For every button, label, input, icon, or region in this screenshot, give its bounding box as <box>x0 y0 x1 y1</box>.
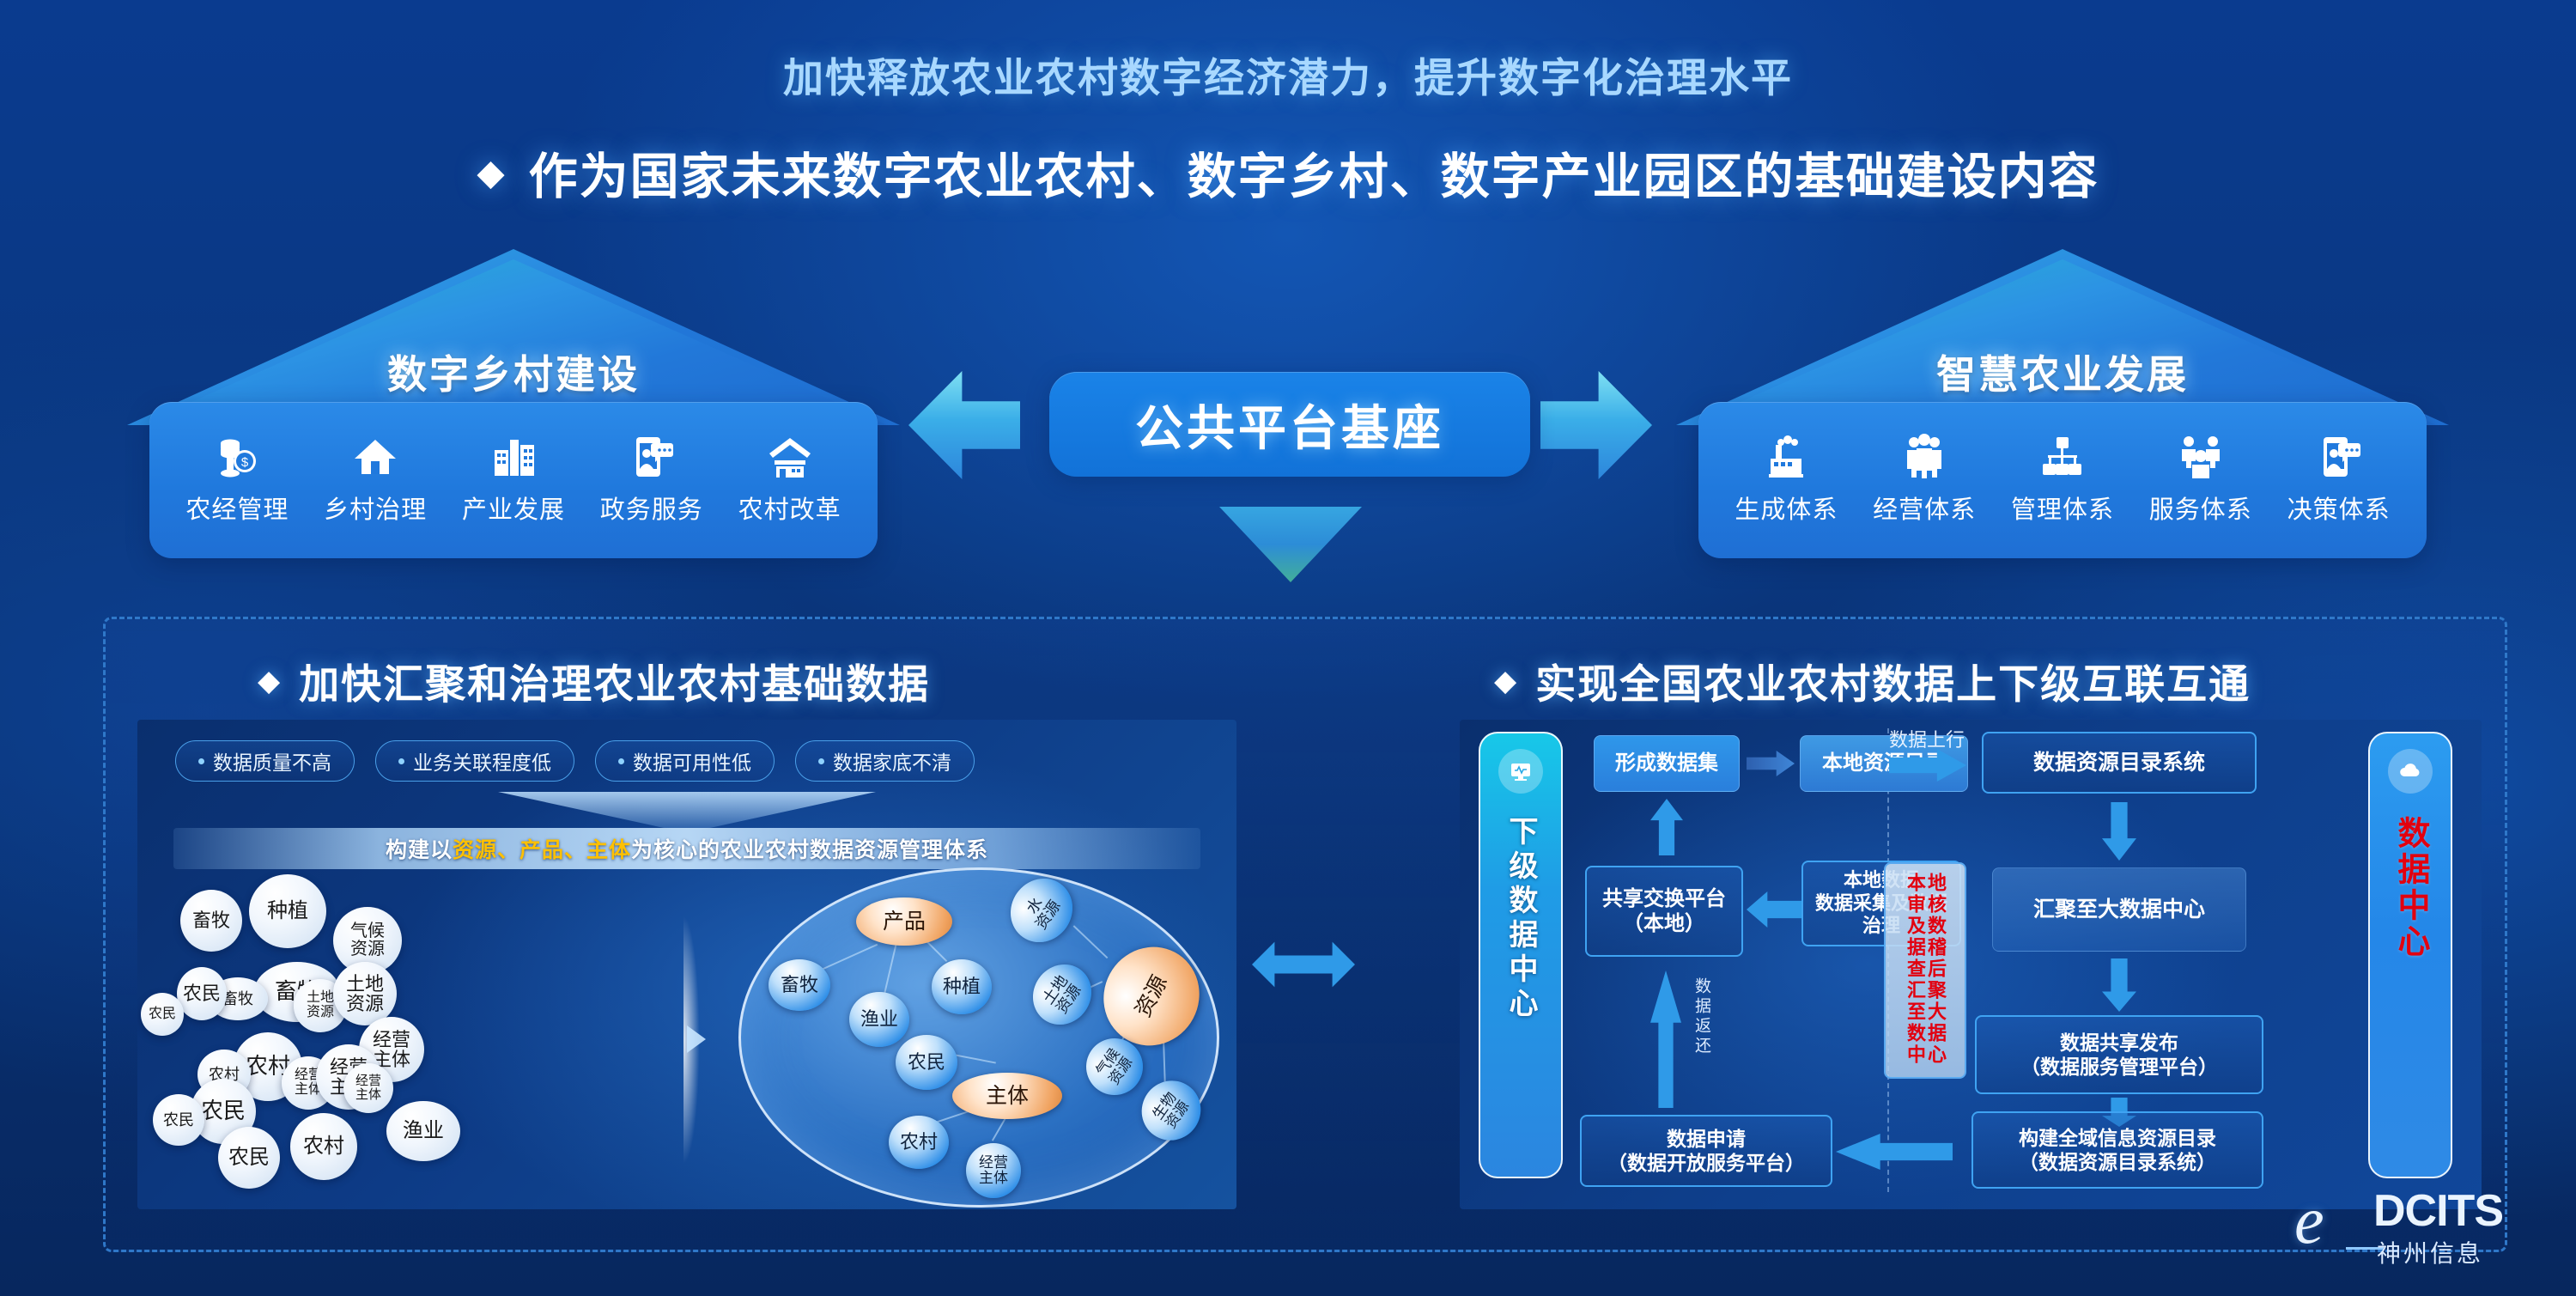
wing-left-item-3-label: 政务服务 <box>600 490 703 526</box>
wing-left-item-4[interactable]: 农村改革 <box>726 431 854 526</box>
problem-chip-3[interactable]: 数据家底不清 <box>795 740 975 782</box>
transition-divider <box>683 871 723 1209</box>
ribbon-highlight: 资源、产品、主体 <box>453 838 631 862</box>
wing-right-card: 生成体系 经营体系 <box>1698 402 2427 558</box>
page-subtitle: ◆ 作为国家未来数字农业农村、数字乡村、数字产业园区的基础建设内容 <box>0 137 2576 208</box>
data-bubble: 渔业 <box>386 1101 460 1161</box>
right-figure: 下级数据中心 数据中心 形成数据集 本地资源目录 数据上行 数据资源目录系统 共… <box>1460 720 2482 1209</box>
data-bubble: 土地 资源 <box>333 962 397 1025</box>
flow-box-exchange-platform[interactable]: 共享交换平台 （本地） <box>1585 866 1743 957</box>
core-node: 土地 资源 <box>1021 953 1103 1037</box>
flow-arrow-left-2 <box>1836 1134 1953 1170</box>
data-bubble: 农民 <box>177 967 227 1020</box>
core-node: 产品 <box>856 897 952 946</box>
problem-chip-label: 数据质量不高 <box>213 746 331 776</box>
wing-left-item-0[interactable]: $ 农经管理 <box>173 431 301 526</box>
problem-chip-1[interactable]: 业务关联程度低 <box>375 740 574 782</box>
data-bubble: 农村 <box>290 1113 357 1180</box>
monitor-icon <box>1498 749 1543 794</box>
wing-right-item-2-label: 管理体系 <box>2011 490 2114 526</box>
wing-right-item-4[interactable]: 决策体系 <box>2275 431 2403 526</box>
svg-text:$: $ <box>241 455 249 470</box>
page-subtitle-text: 作为国家未来数字农业农村、数字乡村、数字产业园区的基础建设内容 <box>529 137 2099 208</box>
data-bubble: 农民 <box>141 993 184 1036</box>
logo-brand: DCITS <box>2373 1185 2503 1237</box>
org-chart-icon <box>2038 431 2087 481</box>
service-people-icon <box>2177 431 2225 481</box>
wing-smart-agriculture: 智慧农业发展 生成体系 <box>1676 249 2449 558</box>
public-platform-base[interactable]: 公共平台基座 <box>1049 372 1530 477</box>
ribbon-suffix: 为核心的农业农村数据资源管理体系 <box>631 838 988 862</box>
strategy-ribbon-text: 构建以资源、产品、主体为核心的农业农村数据资源管理体系 <box>386 833 988 864</box>
flow-box-data-publish[interactable]: 数据共享发布 （数据服务管理平台） <box>1975 1015 2263 1094</box>
diamond-bullet-icon: ◆ <box>477 155 506 191</box>
red-note-box: 本审及据查汇至数中 地核数稽后聚大据心 <box>1884 862 1966 1079</box>
data-center-label: 数据中心 <box>2394 816 2427 960</box>
mobile-service-icon <box>628 431 676 481</box>
problem-chip-2[interactable]: 数据可用性低 <box>595 740 775 782</box>
problem-chip-label: 数据可用性低 <box>633 746 751 776</box>
data-bubble: 经营 主体 <box>343 1063 393 1113</box>
people-group-icon <box>1900 431 1948 481</box>
logo-mark-icon: e <box>2294 1187 2324 1254</box>
problem-chip-label: 数据家底不清 <box>833 746 951 776</box>
wing-right-title: 智慧农业发展 <box>1676 344 2449 400</box>
flow-arrow-up-2 <box>1650 970 1681 1108</box>
buildings-icon <box>489 431 538 481</box>
wing-right-item-2[interactable]: 管理体系 <box>1998 431 2127 526</box>
problem-chip-0[interactable]: 数据质量不高 <box>175 740 355 782</box>
core-node: 生物 资源 <box>1130 1069 1212 1152</box>
flow-arrow-up-1 <box>1650 799 1683 855</box>
red-note-col-1: 本审及据查汇至数中 <box>1905 873 1924 1068</box>
lower-data-center-bar[interactable]: 下级数据中心 <box>1479 732 1563 1178</box>
messy-bubble-cluster: 畜牧种植气候 资源畜牧畜牧农民农民土地 资源土地 资源经营 主体农村农村经营 主… <box>137 873 687 1208</box>
flow-box-aggregate-bigdata[interactable]: 汇聚至大数据中心 <box>1992 867 2246 952</box>
flow-box-catalog-system[interactable]: 数据资源目录系统 <box>1982 732 2257 794</box>
core-node: 农村 <box>889 1116 949 1169</box>
ribbon-prefix: 构建以 <box>386 838 453 862</box>
wing-right-item-0-label: 生成体系 <box>1735 490 1838 526</box>
public-platform-base-label: 公共平台基座 <box>1135 390 1444 459</box>
wing-right-item-0[interactable]: 生成体系 <box>1722 431 1850 526</box>
problem-chip-list: 数据质量不高业务关联程度低数据可用性低数据家底不清 <box>163 740 1211 782</box>
section-heading-left: ◆ 加快汇聚和治理农业农村基础数据 <box>258 651 930 710</box>
wing-left-card: $ 农经管理 乡村治理 <box>149 402 878 558</box>
core-node: 种植 <box>932 959 992 1014</box>
funnel-shape <box>498 792 876 830</box>
bullet-dot-icon <box>618 758 624 764</box>
return-label: 数据返还 <box>1690 977 1713 1056</box>
money-stack-icon: $ <box>213 431 261 481</box>
mobile-decision-icon <box>2315 431 2363 481</box>
wing-left-item-1[interactable]: 乡村治理 <box>311 431 440 526</box>
core-node: 经营 主体 <box>966 1143 1021 1198</box>
logo-brand-cn: 神州信息 <box>2377 1235 2483 1269</box>
wing-left-item-1-label: 乡村治理 <box>324 490 427 526</box>
lower-data-center-label: 下级数据中心 <box>1506 816 1535 1022</box>
problem-chip-label: 业务关联程度低 <box>413 746 551 776</box>
company-logo: e DCITS 神州信息 <box>2294 1178 2552 1273</box>
flow-box-form-dataset[interactable]: 形成数据集 <box>1594 735 1740 792</box>
flow-arrow-right-1 <box>1747 751 1795 776</box>
arrow-right-icon <box>1540 371 1652 479</box>
house-icon <box>351 431 399 481</box>
wing-left-item-0-label: 农经管理 <box>185 490 289 526</box>
data-bubble: 农民 <box>153 1094 204 1146</box>
left-figure: 数据质量不高业务关联程度低数据可用性低数据家底不清 构建以资源、产品、主体为核心… <box>137 720 1236 1209</box>
pentagon-roof-left-inner <box>139 259 888 425</box>
flow-box-data-request[interactable]: 数据申请 （数据开放服务平台） <box>1580 1115 1832 1187</box>
page-title: 加快释放农业农村数字经济潜力，提升数字化治理水平 <box>0 45 2576 104</box>
pentagon-roof-right-inner <box>1688 259 2437 425</box>
slide-canvas: 加快释放农业农村数字经济潜力，提升数字化治理水平 ◆ 作为国家未来数字农业农村、… <box>0 0 2576 1296</box>
core-node: 渔业 <box>849 992 909 1047</box>
red-note-col-2: 地核数稽后聚大据心 <box>1926 873 1945 1068</box>
flow-box-global-catalog[interactable]: 构建全域信息资源目录 （数据资源目录系统） <box>1971 1111 2263 1189</box>
flow-arrow-left-1 <box>1747 891 1801 928</box>
data-bubble: 农民 <box>218 1127 280 1189</box>
organized-ellipse: 产品畜牧渔业种植农民主体农村经营 主体水 资源土地 资源资源气候 资源生物 资源 <box>738 867 1219 1208</box>
wing-right-item-1-label: 经营体系 <box>1873 490 1976 526</box>
wing-digital-village: 数字乡村建设 $ 农经管理 <box>127 249 900 558</box>
wing-right-item-3-label: 服务体系 <box>2149 490 2252 526</box>
factory-icon <box>1762 431 1810 481</box>
arrow-down-icon <box>1219 507 1362 582</box>
wing-right-item-4-label: 决策体系 <box>2287 490 2391 526</box>
core-node: 农民 <box>896 1035 957 1090</box>
wing-left-item-2-label: 产业发展 <box>462 490 565 526</box>
cloud-icon <box>2388 749 2433 794</box>
bullet-dot-icon <box>398 758 404 764</box>
wing-right-item-3[interactable]: 服务体系 <box>2136 431 2265 526</box>
diamond-bullet-icon: ◆ <box>1494 666 1518 696</box>
section-heading-right: ◆ 实现全国农业农村数据上下级互联互通 <box>1494 651 2251 710</box>
strategy-ribbon: 构建以资源、产品、主体为核心的农业农村数据资源管理体系 <box>173 828 1200 869</box>
data-center-bar[interactable]: 数据中心 <box>2368 732 2452 1178</box>
wing-right-item-1[interactable]: 经营体系 <box>1860 431 1989 526</box>
data-bubble: 畜牧 <box>180 890 242 952</box>
wing-left-item-4-label: 农村改革 <box>738 490 841 526</box>
diamond-bullet-icon: ◆ <box>258 666 282 696</box>
section-heading-right-text: 实现全国农业农村数据上下级互联互通 <box>1535 651 2251 710</box>
arrow-left-icon <box>908 371 1020 479</box>
upstream-label: 数据上行 <box>1889 725 1965 752</box>
section-heading-left-text: 加快汇聚和治理农业农村基础数据 <box>299 651 930 710</box>
data-bubble: 种植 <box>249 874 326 948</box>
flow-arrow-down-1 <box>2102 802 2136 861</box>
village-house-icon <box>766 431 814 481</box>
bullet-dot-icon <box>198 758 204 764</box>
flow-arrow-down-2 <box>2102 958 2136 1012</box>
core-node: 畜牧 <box>769 959 830 1011</box>
bullet-dot-icon <box>818 758 824 764</box>
wing-left-item-2[interactable]: 产业发展 <box>449 431 578 526</box>
wing-left-title: 数字乡村建设 <box>127 344 900 400</box>
core-node: 主体 <box>952 1073 1062 1119</box>
wing-left-item-3[interactable]: 政务服务 <box>587 431 716 526</box>
core-node: 水 资源 <box>999 867 1085 954</box>
